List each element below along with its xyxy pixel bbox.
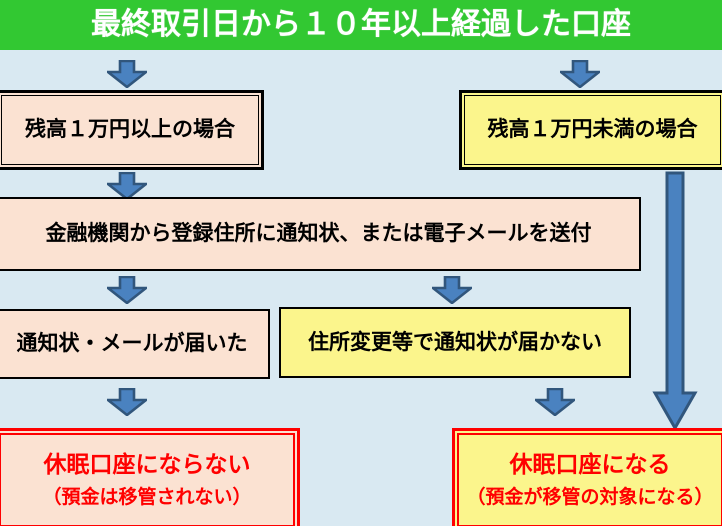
node-balance-under: 残高１万円未満の場合: [459, 90, 722, 170]
arrow-down-long-icon-bypass-to-dormant: [652, 171, 698, 431]
arrow-down-icon-to-notice-sent: [107, 172, 147, 200]
arrow-down-icon-to-notice-undelivered: [432, 276, 472, 304]
node-balance-over-label: 残高１万円以上の場合: [25, 118, 235, 141]
arrow-down-icon-to-balance-under: [560, 60, 600, 88]
node-notice-sent: 金融機関から登録住所に通知状、または電子メールを送付: [0, 197, 641, 271]
node-notice-received-label: 通知状・メールが届いた: [17, 332, 248, 355]
node-notice-undelivered: 住所変更等で通知状が届かない: [279, 307, 631, 378]
arrow-down-icon-to-result-dormant: [535, 388, 575, 416]
arrow-down-icon-to-balance-over: [107, 60, 147, 88]
result-dormant-main: 休眠口座になる: [510, 451, 671, 477]
result-dormant-sub: （預金が移管の対象になる）: [466, 487, 713, 509]
arrow-down-icon-to-notice-received: [107, 276, 147, 304]
flowchart-canvas: 最終取引日から１０年以上経過した口座 残高１万円以上の場合 残高１万円未満の場合…: [0, 0, 722, 526]
node-result-dormant: 休眠口座になる （預金が移管の対象になる）: [452, 428, 722, 526]
result-not-dormant-main: 休眠口座にならない: [44, 451, 251, 477]
arrow-down-icon-to-result-not-dormant: [107, 388, 147, 416]
result-not-dormant-sub: （預金は移管されない）: [42, 487, 251, 509]
node-notice-received: 通知状・メールが届いた: [0, 309, 270, 379]
node-notice-sent-label: 金融機関から登録住所に通知状、または電子メールを送付: [46, 222, 592, 245]
node-balance-over: 残高１万円以上の場合: [0, 90, 264, 170]
node-result-not-dormant: 休眠口座にならない （預金は移管されない）: [0, 428, 300, 526]
page-title: 最終取引日から１０年以上経過した口座: [91, 10, 631, 40]
node-balance-under-label: 残高１万円未満の場合: [488, 118, 698, 141]
header-banner: 最終取引日から１０年以上経過した口座: [0, 0, 722, 50]
node-notice-undelivered-label: 住所変更等で通知状が届かない: [308, 331, 602, 354]
